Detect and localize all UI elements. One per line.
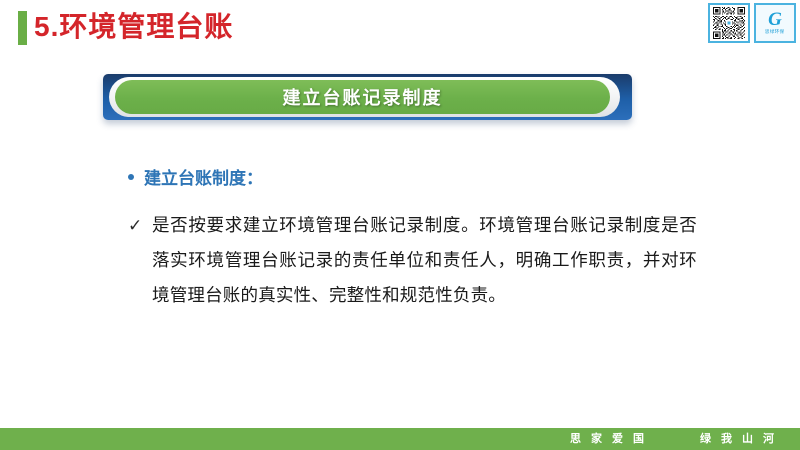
qr-code-icon[interactable] <box>708 3 750 43</box>
slide-header: 5.环境管理台账 <box>0 0 800 56</box>
footer-bar: 思家爱国 绿我山河 <box>0 428 800 450</box>
footer-slogan-group: 思家爱国 绿我山河 <box>570 428 800 450</box>
brand-block: G 思绿环保 <box>708 3 796 43</box>
sub-heading-row: 建立台账制度： <box>128 166 708 192</box>
banner-title: 建立台账记录制度 <box>283 84 443 110</box>
page-title: 5.环境管理台账 <box>34 7 233 47</box>
paragraph-row: ✓ 是否按要求建立环境管理台账记录制度。环境管理台账记录制度是否落实环境管理台账… <box>128 208 708 313</box>
company-logo-icon[interactable]: G 思绿环保 <box>754 3 796 43</box>
footer-slogan-left: 思家爱国 <box>570 428 654 450</box>
logo-text: 思绿环保 <box>765 29 785 35</box>
content-area: 建立台账制度： ✓ 是否按要求建立环境管理台账记录制度。环境管理台账记录制度是否… <box>128 166 708 313</box>
section-banner: 建立台账记录制度 <box>103 74 632 120</box>
sub-heading-text: 建立台账制度： <box>144 166 263 192</box>
check-mark-icon: ✓ <box>128 208 144 313</box>
bullet-dot-icon <box>128 174 134 180</box>
logo-mark: G <box>768 11 782 29</box>
qr-code-svg <box>712 7 746 39</box>
paragraph-text: 是否按要求建立环境管理台账记录制度。环境管理台账记录制度是否落实环境管理台账记录… <box>152 208 697 313</box>
slide-root: 5.环境管理台账 <box>0 0 800 450</box>
title-accent-bar <box>18 11 27 45</box>
banner-inner-pill: 建立台账记录制度 <box>115 80 610 114</box>
footer-slogan-right: 绿我山河 <box>700 428 784 450</box>
